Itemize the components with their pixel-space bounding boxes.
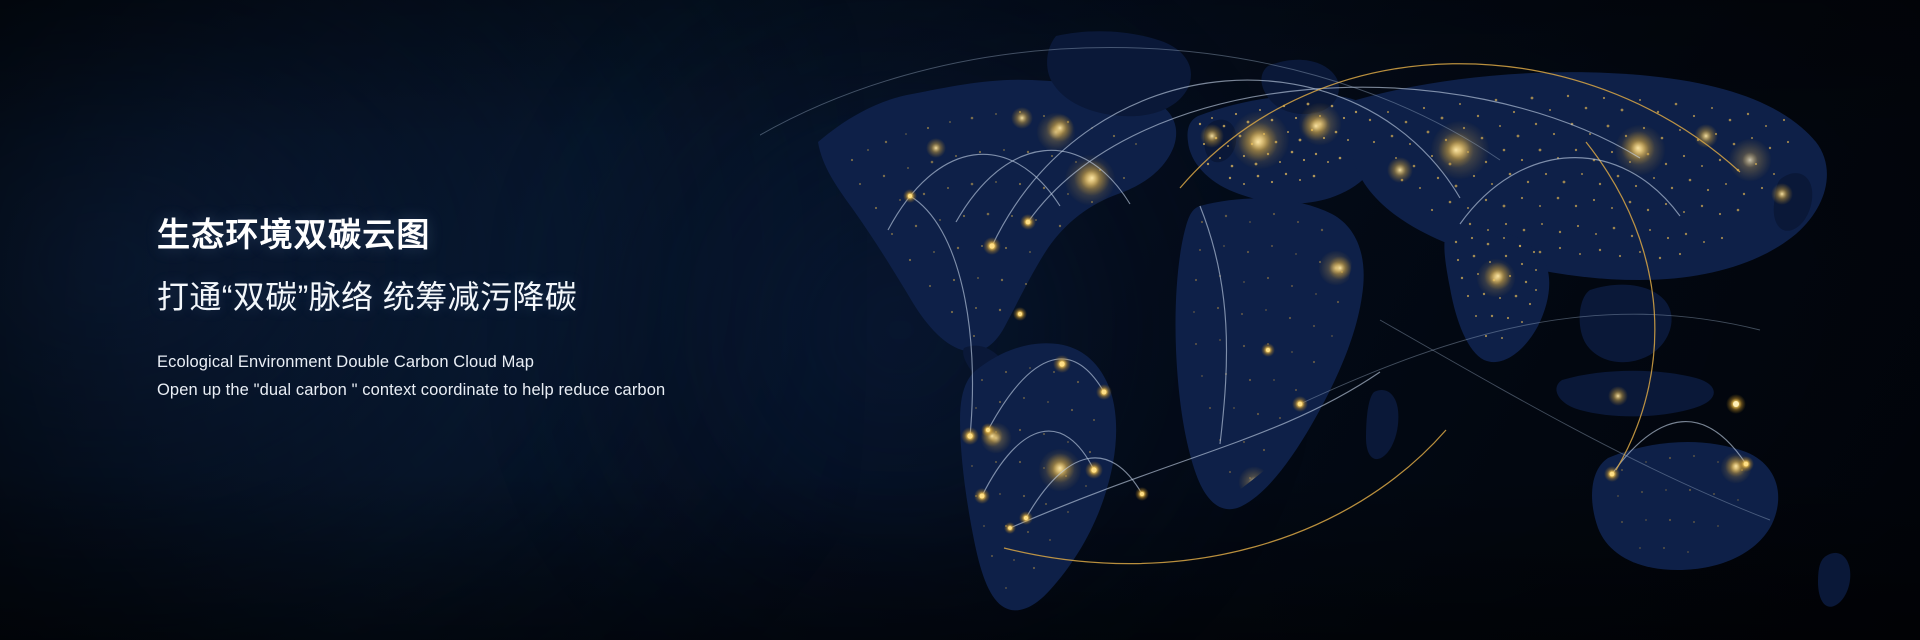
world-map-svg bbox=[760, 0, 1920, 640]
node-marker bbox=[1020, 214, 1036, 230]
node-marker bbox=[1019, 511, 1033, 525]
landmass-north-america bbox=[818, 80, 1176, 352]
world-night-lights-map bbox=[760, 0, 1920, 640]
page-subtitle: 打通“双碳”脉络 统筹减污降碳 bbox=[157, 277, 665, 319]
hero-text-block: 生态环境双碳云图 打通“双碳”脉络 统筹减污降碳 Ecological Envi… bbox=[157, 214, 665, 404]
english-subtitle-line-2: Open up the "dual carbon " context coord… bbox=[157, 377, 665, 405]
english-subtitle-group: Ecological Environment Double Carbon Clo… bbox=[157, 349, 665, 404]
node-marker bbox=[983, 237, 1001, 255]
hero-banner: 生态环境双碳云图 打通“双碳”脉络 统筹减污降碳 Ecological Envi… bbox=[0, 0, 1920, 640]
node-marker bbox=[1135, 487, 1149, 501]
node-marker bbox=[1292, 396, 1308, 412]
node-marker bbox=[981, 423, 995, 437]
node-marker bbox=[1726, 394, 1746, 414]
landmass-indonesia bbox=[1556, 371, 1713, 417]
node-marker bbox=[1738, 456, 1754, 472]
node-marker bbox=[974, 488, 990, 504]
node-marker bbox=[1004, 522, 1016, 534]
landmass-madagascar bbox=[1366, 390, 1398, 459]
english-subtitle-line-1: Ecological Environment Double Carbon Clo… bbox=[157, 349, 665, 377]
node-marker bbox=[961, 427, 979, 445]
landmass-new-zealand bbox=[1818, 553, 1850, 607]
node-marker bbox=[1053, 355, 1071, 373]
node-marker bbox=[1013, 307, 1027, 321]
node-marker bbox=[1096, 384, 1112, 400]
node-marker bbox=[1261, 343, 1275, 357]
landmass-southeast-asia bbox=[1580, 285, 1672, 363]
node-marker bbox=[1085, 461, 1103, 479]
page-title: 生态环境双碳云图 bbox=[157, 214, 665, 256]
node-marker bbox=[1604, 466, 1620, 482]
node-marker bbox=[903, 189, 917, 203]
